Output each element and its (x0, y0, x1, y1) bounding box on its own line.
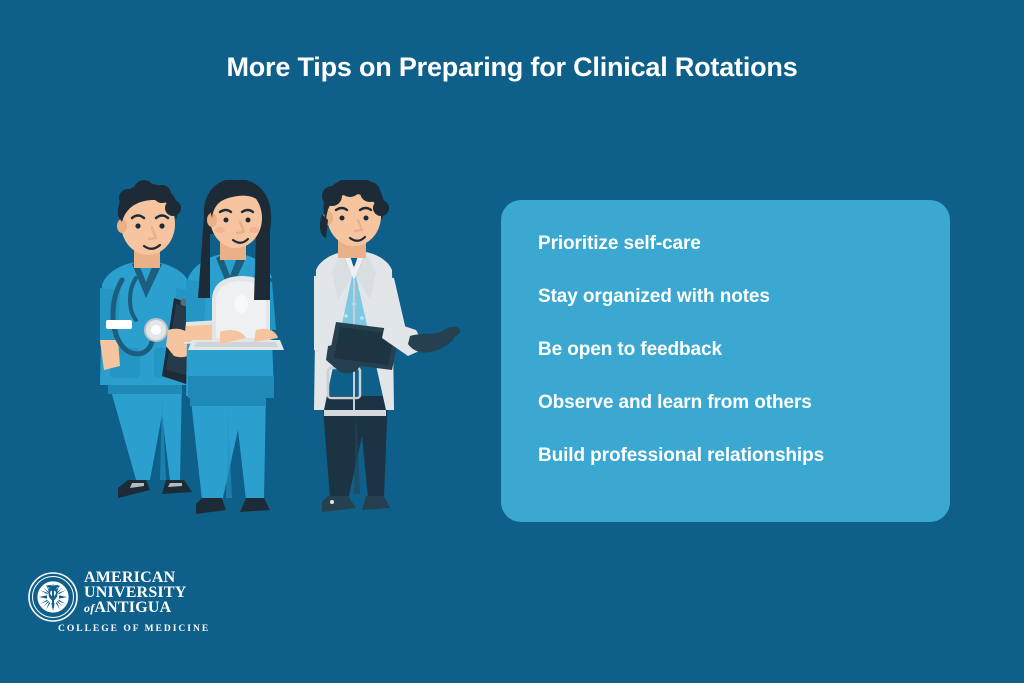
logo-line-of-antigua: ofANTIGUA (84, 600, 204, 616)
logo-line-american: AMERICAN (84, 570, 204, 585)
tip-item-4: Observe and learn from others (538, 392, 930, 414)
logo-wordmark: AMERICAN UNIVERSITY ofANTIGUA (84, 570, 204, 616)
logo-subtitle-college-of-medicine: COLLEGE OF MEDICINE (58, 624, 210, 634)
logo-american-university-of-antigua: AMERICAN UNIVERSITY ofANTIGUA COLLEGE OF… (28, 570, 203, 642)
figure-female-nurse (184, 180, 284, 514)
figure-doctor-lab-coat (314, 180, 460, 512)
tips-list: Prioritize self-care Stay organized with… (538, 233, 930, 467)
illustration-medical-team (70, 180, 490, 535)
tip-item-1: Prioritize self-care (538, 233, 930, 255)
logo-antigua-text: ANTIGUA (94, 599, 171, 616)
logo-line-university: UNIVERSITY (84, 585, 204, 600)
tip-item-5: Build professional relationships (538, 445, 930, 467)
tips-card: Prioritize self-care Stay organized with… (501, 200, 950, 522)
university-seal-icon (28, 572, 78, 622)
tip-item-3: Be open to feedback (538, 339, 930, 361)
logo-of-text: of (84, 601, 94, 615)
slide-canvas: More Tips on Preparing for Clinical Rota… (0, 0, 1024, 683)
tip-item-2: Stay organized with notes (538, 286, 930, 308)
page-title: More Tips on Preparing for Clinical Rota… (0, 52, 1024, 83)
